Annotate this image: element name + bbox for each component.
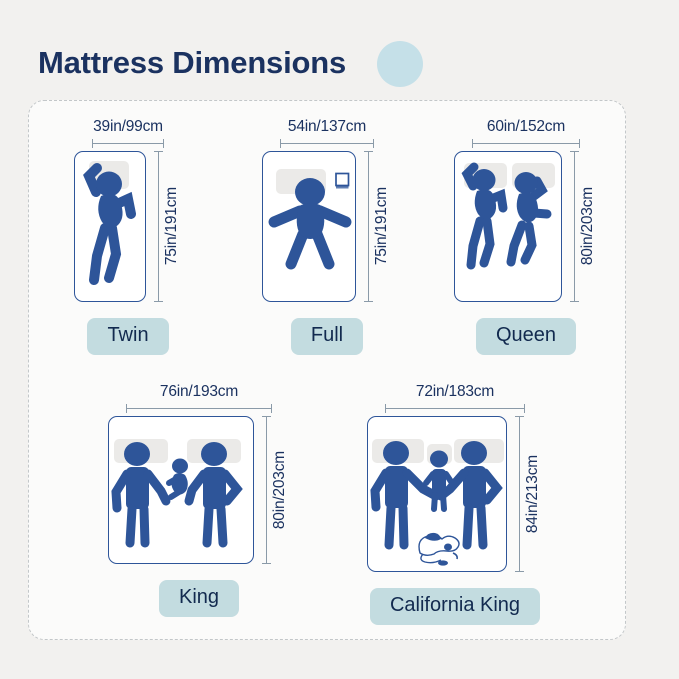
king-width-dimension-line: [126, 404, 272, 413]
bed-label-queen: Queen: [476, 318, 576, 355]
person-sprawled-icon: [75, 152, 146, 302]
person-sprawled-icon: [511, 172, 547, 262]
baby-icon: [169, 459, 188, 498]
full-width-dimension-line: [280, 139, 374, 148]
california-king-width-dimension-line: [385, 404, 525, 413]
bed-card-queen: 60in/152cm: [427, 118, 626, 355]
queen-height-dimension: 80in/203cm: [568, 151, 598, 302]
child-icon: [426, 451, 452, 510]
bed-label-full: Full: [291, 318, 363, 355]
queen-figures-group: [455, 152, 562, 302]
person-sprawled-icon: [467, 167, 503, 265]
king-mattress: [108, 416, 254, 564]
page-title-text: Mattress Dimensions: [38, 45, 346, 81]
book-icon: [334, 172, 350, 189]
twin-width-label: 39in/99cm: [93, 118, 163, 136]
bed-card-california-king: 72in/183cm: [327, 383, 583, 625]
full-mattress: [262, 151, 356, 302]
page-title: Mattress Dimensions: [38, 38, 346, 88]
king-height-label: 80in/203cm: [271, 451, 289, 529]
bed-card-twin: 39in/99cm: [29, 118, 228, 355]
twin-height-label: 75in/191cm: [163, 187, 181, 265]
full-width-label: 54in/137cm: [288, 118, 366, 136]
person-standing-icon: [189, 442, 237, 543]
bed-label-california-king: California King: [370, 588, 540, 625]
bed-card-full: 54in/137cm: [228, 118, 427, 355]
twin-mattress: [74, 151, 146, 302]
king-figures-group: [109, 417, 254, 564]
full-height-label: 75in/191cm: [373, 187, 391, 265]
california-king-height-label: 84in/213cm: [524, 455, 542, 533]
queen-width-dimension-line: [472, 139, 580, 148]
california-king-mattress: [367, 416, 507, 572]
queen-height-dimension-line: [570, 151, 579, 302]
bed-label-king: King: [159, 580, 239, 617]
bed-card-king: 76in/193cm: [71, 383, 327, 625]
full-height-dimension: 75in/191cm: [362, 151, 392, 302]
bed-row-bottom: 76in/193cm: [28, 383, 626, 625]
king-height-dimension-line: [262, 416, 271, 564]
queen-height-label: 80in/203cm: [579, 187, 597, 265]
twin-height-dimension-line: [154, 151, 163, 302]
full-height-dimension-line: [364, 151, 373, 302]
twin-height-dimension: 75in/191cm: [152, 151, 182, 302]
twin-width-dimension-line: [92, 139, 164, 148]
king-height-dimension: 80in/203cm: [260, 416, 290, 564]
person-standing-icon: [441, 441, 497, 545]
queen-width-label: 60in/152cm: [487, 118, 565, 136]
california-king-figures-group: [368, 417, 507, 572]
person-standing-icon: [375, 441, 436, 545]
dog-icon: [419, 533, 459, 566]
bed-label-twin: Twin: [87, 318, 168, 355]
person-standing-icon: [116, 442, 166, 543]
title-accent-circle: [377, 41, 423, 87]
bed-row-top: 39in/99cm: [28, 118, 626, 355]
california-king-height-dimension-line: [515, 416, 524, 572]
california-king-height-dimension: 84in/213cm: [513, 416, 543, 572]
california-king-width-label: 72in/183cm: [416, 383, 494, 401]
king-width-label: 76in/193cm: [160, 383, 238, 401]
queen-mattress: [454, 151, 562, 302]
